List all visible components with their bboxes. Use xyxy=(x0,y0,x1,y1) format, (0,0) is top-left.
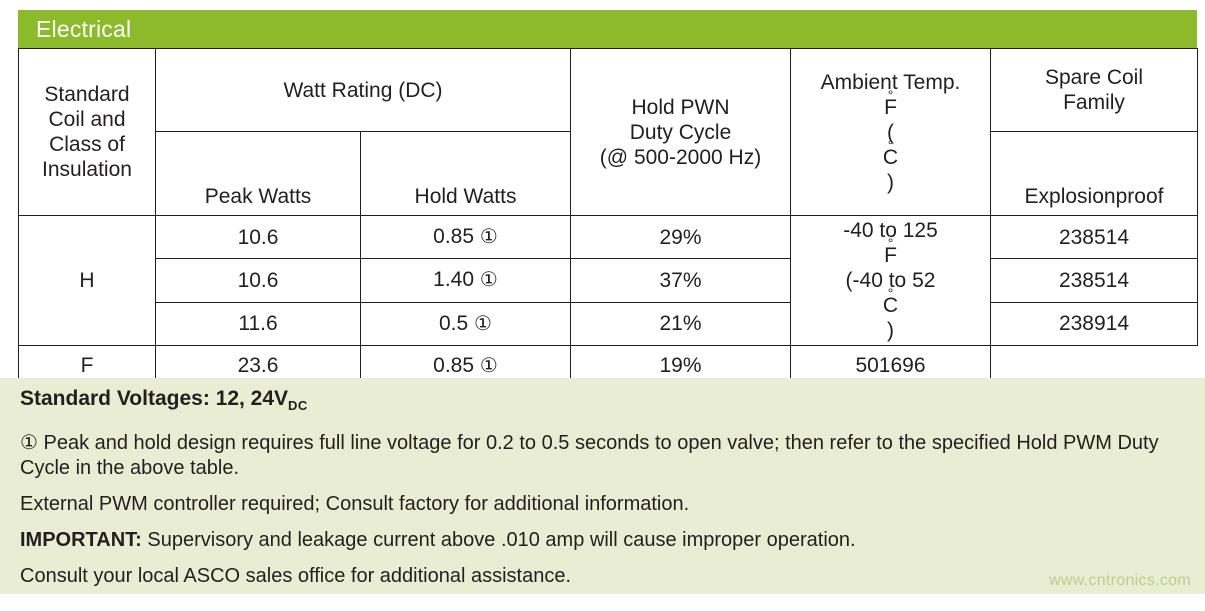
note-consult-asco: Consult your local ASCO sales office for… xyxy=(20,564,1185,589)
cell-hold-watts: 0.85 ① xyxy=(361,216,571,259)
spec-sheet: Electrical Standard Coil and Class of In… xyxy=(0,0,1205,611)
header-line: Hold PWN xyxy=(575,95,786,120)
header-line: (@ 500-2000 Hz) xyxy=(575,145,786,170)
note-peak-hold-design: ① Peak and hold design requires full lin… xyxy=(20,431,1185,481)
header-standard-coil-class: Standard Coil and Class of Insulation xyxy=(19,49,156,216)
header-line: Standard xyxy=(23,82,151,107)
note-important-text: Supervisory and leakage current above .0… xyxy=(142,529,856,551)
note-voltages-label: Standard Voltages: 12, 24V xyxy=(20,387,288,410)
cell-hold-watts: 0.5 ① xyxy=(361,302,571,345)
note-important-label: IMPORTANT: xyxy=(20,529,142,551)
cell-spare-coil: 238514 xyxy=(991,216,1198,259)
cell-duty-cycle: 21% xyxy=(571,302,791,345)
unit-f: F xyxy=(795,95,986,120)
cell-spare-coil: 238914 xyxy=(991,302,1198,345)
cell-peak-watts: 10.6 xyxy=(156,259,361,302)
header-explosionproof: Explosionproof xyxy=(991,132,1198,216)
footnote-marker-icon: ① xyxy=(474,313,492,335)
hold-watts-value: 0.85 xyxy=(433,225,474,248)
footnote-marker-icon: ① xyxy=(480,226,498,248)
header-watt-rating-group: Watt Rating (DC) xyxy=(156,49,571,132)
section-title: Electrical xyxy=(36,16,131,42)
watermark: www.cntronics.com xyxy=(1049,572,1191,590)
cell-duty-cycle: 37% xyxy=(571,259,791,302)
ambient-f-unit: F xyxy=(795,243,986,268)
cell-duty-cycle: 29% xyxy=(571,216,791,259)
footnote-marker-icon: ① xyxy=(480,355,498,377)
header-line: °F (°C) xyxy=(795,95,986,195)
header-line: Duty Cycle xyxy=(575,120,786,145)
header-peak-watts: Peak Watts xyxy=(156,132,361,216)
note-external-pwm: External PWM controller required; Consul… xyxy=(20,492,1185,517)
table-row: 10.6 1.40 ① 37% 238514 xyxy=(19,259,1198,302)
header-line: Class of xyxy=(23,132,151,157)
cell-spare-coil: 238514 xyxy=(991,259,1198,302)
footnote-marker-icon: ① xyxy=(480,269,498,291)
header-line: Coil and xyxy=(23,107,151,132)
header-hold-watts: Hold Watts xyxy=(361,132,571,216)
ambient-line-c: (-40 to 52°C) xyxy=(795,268,986,343)
hold-watts-value: 1.40 xyxy=(433,268,474,291)
electrical-spec-table: Standard Coil and Class of Insulation Wa… xyxy=(18,48,1198,386)
header-spare-coil-family: Spare Coil Family xyxy=(991,49,1198,132)
notes-panel: Standard Voltages: 12, 24VDC ① Peak and … xyxy=(0,378,1205,594)
hold-watts-value: 0.85 xyxy=(433,354,474,377)
note-important: IMPORTANT: Supervisory and leakage curre… xyxy=(20,528,1185,553)
unit-c: C xyxy=(795,145,986,170)
cell-ambient-temp: -40 to 125°F (-40 to 52°C) xyxy=(791,216,991,346)
cell-peak-watts: 10.6 xyxy=(156,216,361,259)
cell-peak-watts: 11.6 xyxy=(156,302,361,345)
header-line: Spare Coil xyxy=(995,65,1193,90)
header-line: Family xyxy=(995,90,1193,115)
header-hold-pwm-duty-cycle: Hold PWN Duty Cycle (@ 500-2000 Hz) xyxy=(571,49,791,216)
cell-class-h: H xyxy=(19,216,156,346)
hold-watts-value: 0.5 xyxy=(439,312,468,335)
table-header-row-group: Standard Coil and Class of Insulation Wa… xyxy=(19,49,1198,132)
section-banner: Electrical xyxy=(18,10,1197,48)
header-line: Insulation xyxy=(23,157,151,182)
table-row: H 10.6 0.85 ① 29% -40 to 125°F (-40 to 5… xyxy=(19,216,1198,259)
ambient-c-close: ) xyxy=(795,318,986,343)
cell-hold-watts: 1.40 ① xyxy=(361,259,571,302)
note-voltages-subscript: DC xyxy=(288,398,308,413)
ambient-c-unit: C xyxy=(795,293,986,318)
note-standard-voltages: Standard Voltages: 12, 24VDC xyxy=(20,386,1185,418)
header-ambient-temp: Ambient Temp. °F (°C) xyxy=(791,49,991,216)
ambient-line-f: -40 to 125°F xyxy=(795,218,986,268)
table-row: 11.6 0.5 ① 21% 238914 xyxy=(19,302,1198,345)
